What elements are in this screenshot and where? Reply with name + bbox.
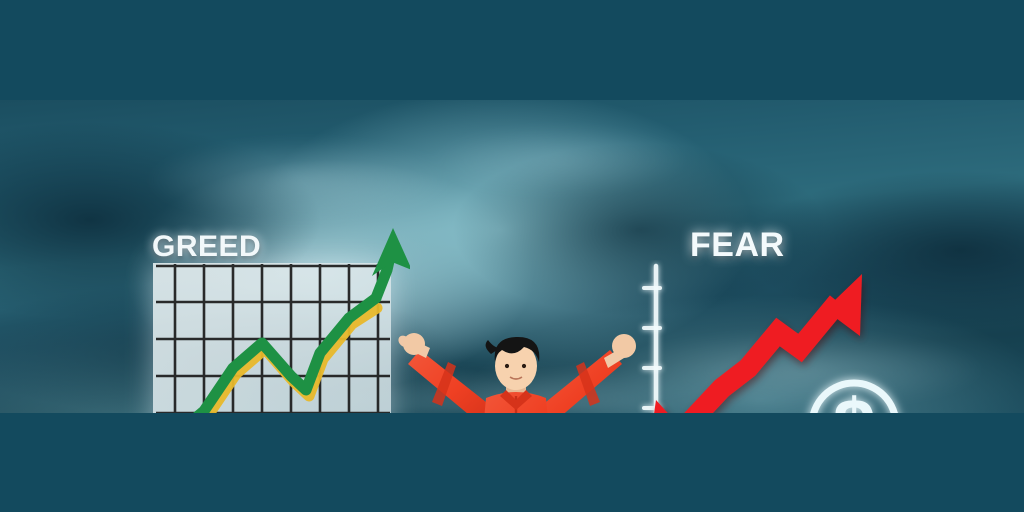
person-arms-raised bbox=[396, 328, 636, 413]
greed-line bbox=[162, 298, 376, 413]
person-right-arm bbox=[541, 334, 636, 413]
illustration-canvas: GREED bbox=[0, 0, 1024, 512]
fear-chart-graphic: $ bbox=[630, 260, 920, 413]
photo-band: GREED bbox=[0, 100, 1024, 413]
greed-grid bbox=[156, 264, 390, 413]
fear-title: FEAR bbox=[690, 226, 785, 265]
person-eye-left bbox=[505, 364, 509, 368]
dollar-sign-icon: $ bbox=[833, 384, 875, 413]
person-eye-right bbox=[522, 364, 526, 368]
letterbox-bar-top bbox=[0, 0, 1024, 100]
dollar-badge: $ bbox=[812, 383, 896, 413]
person-left-arm bbox=[398, 333, 491, 413]
letterbox-bar-bottom bbox=[0, 413, 1024, 512]
greed-title: GREED bbox=[152, 230, 261, 264]
